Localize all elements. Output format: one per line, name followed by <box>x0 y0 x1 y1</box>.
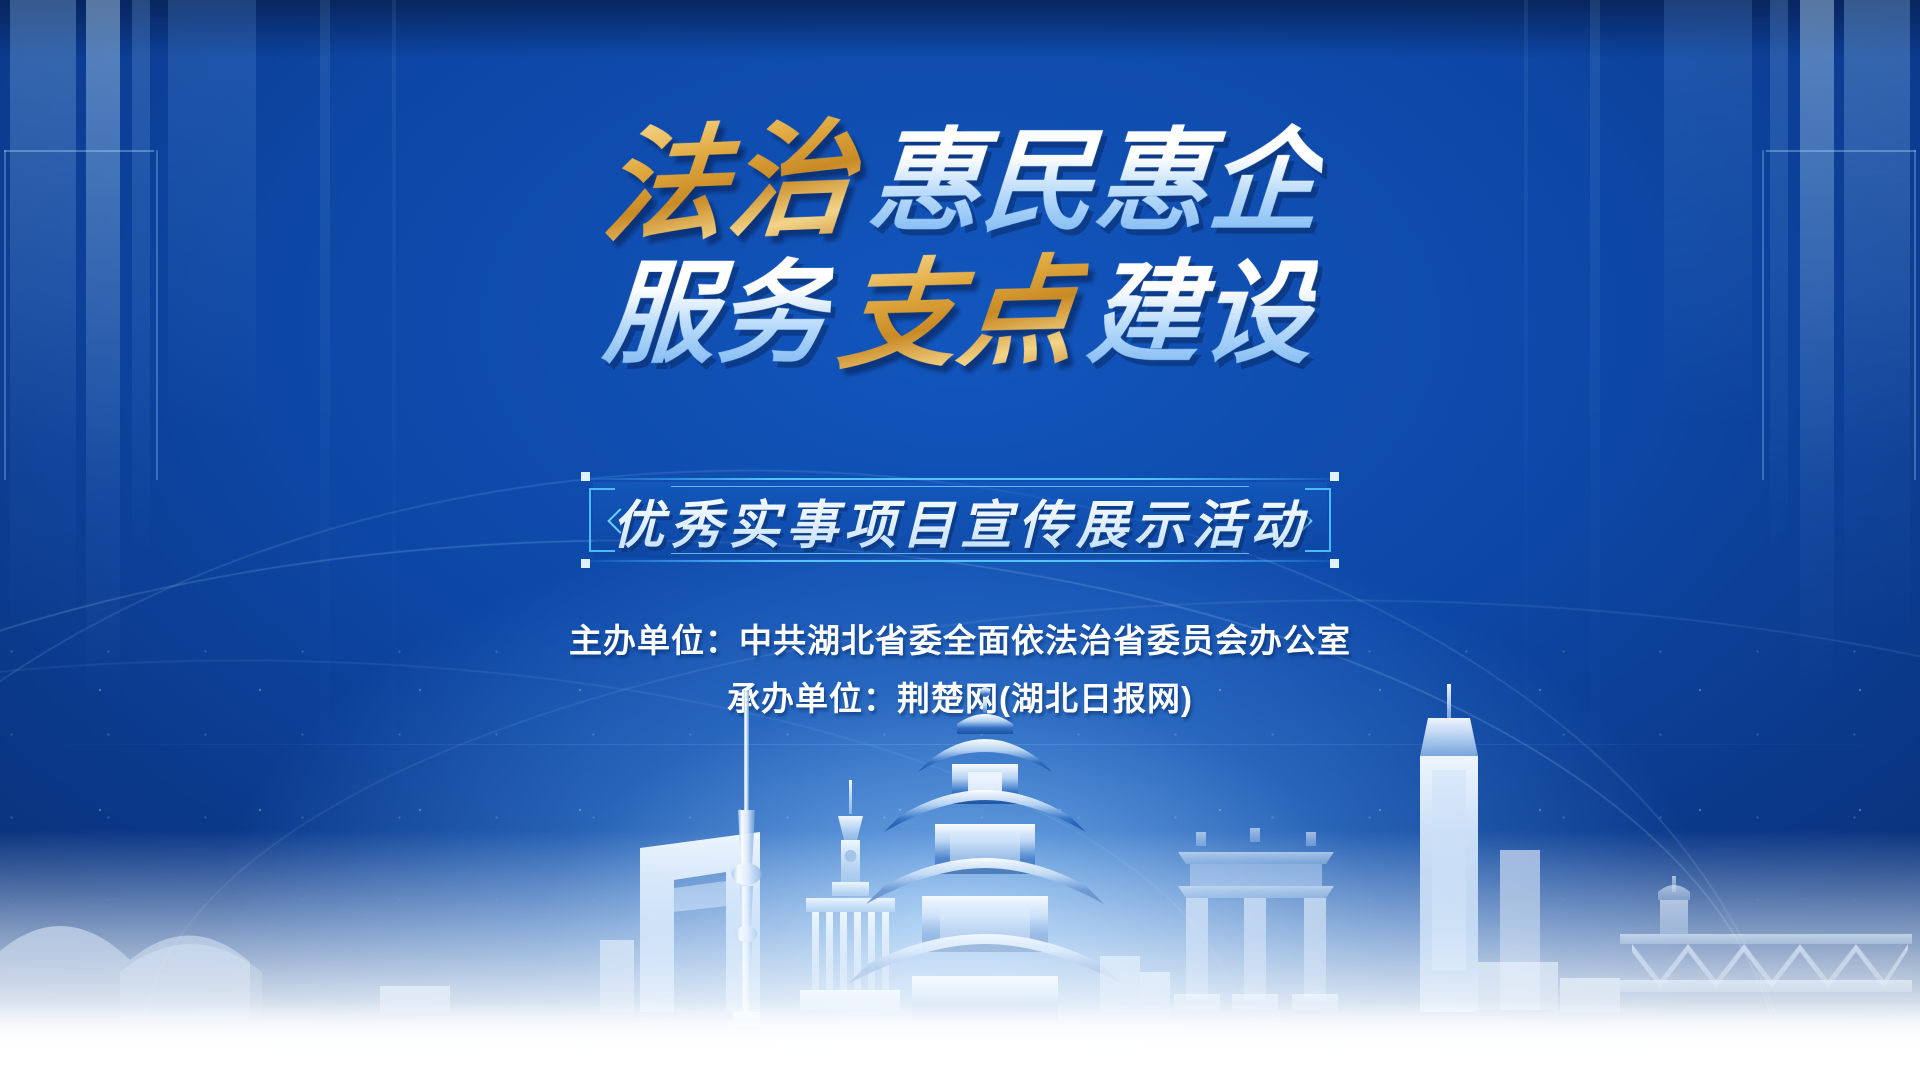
subtitle-frame: 优秀实事项目宣传展示活动 <box>575 466 1345 574</box>
title-line-1: 法治惠民惠企 <box>0 82 1920 232</box>
title-blue-fuwu: 服务 <box>599 223 837 385</box>
poster-canvas: 法治惠民惠企 服务支点建设 优秀实事项目宣传展示活动 主办单位：中共湖北省委全面… <box>0 0 1920 1080</box>
title-line-2: 服务支点建设 <box>0 218 1920 358</box>
main-title: 法治惠民惠企 服务支点建设 <box>0 82 1920 358</box>
title-gold-zhidian: 支点 <box>826 215 1094 392</box>
title-blue-jianshe: 建设 <box>1084 223 1322 385</box>
ground-fade <box>0 1002 1920 1080</box>
wuhan-skyline <box>0 660 1920 1080</box>
subtitle-text: 优秀实事项目宣传展示活动 <box>575 466 1345 574</box>
